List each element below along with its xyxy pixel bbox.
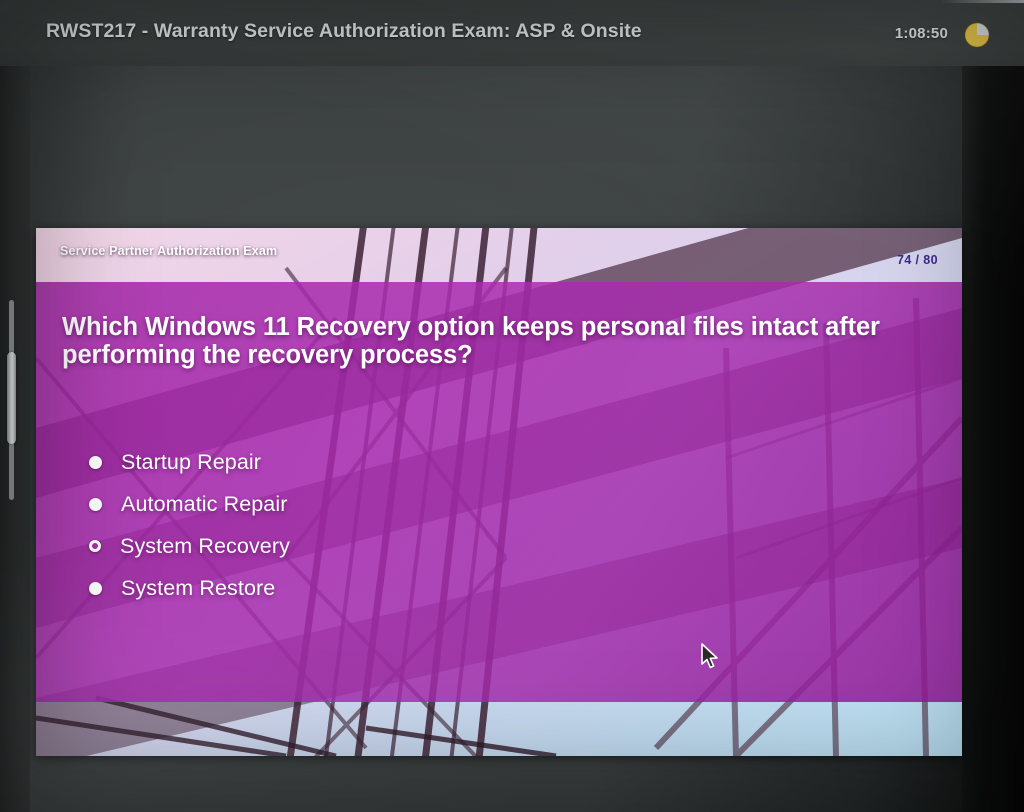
top-bar-hairline	[940, 0, 1024, 3]
answer-option[interactable]: Startup Repair	[86, 441, 786, 483]
slide-header-label: Service Partner Authorization Exam	[60, 244, 277, 258]
bullet-filled-icon	[89, 498, 102, 511]
right-bezel	[962, 0, 1024, 812]
question-text: Which Windows 11 Recovery option keeps p…	[62, 314, 942, 369]
screen: RWST217 - Warranty Service Authorization…	[0, 0, 1024, 812]
answer-option-selected[interactable]: System Recovery	[86, 525, 786, 567]
bullet-filled-icon	[89, 582, 102, 595]
answer-option[interactable]: Automatic Repair	[86, 483, 786, 525]
answer-option[interactable]: System Restore	[86, 567, 786, 609]
slide-header-band: Service Partner Authorization Exam 74 / …	[36, 228, 962, 282]
scrollbar-thumb[interactable]	[7, 352, 16, 444]
exam-top-bar: RWST217 - Warranty Service Authorization…	[0, 0, 1024, 66]
bullet-ring-icon	[89, 540, 101, 552]
answer-option-label: Automatic Repair	[121, 492, 288, 517]
bullet-filled-icon	[89, 456, 102, 469]
answer-option-label: Startup Repair	[121, 450, 261, 475]
slide-footer-band	[36, 702, 962, 756]
clock-pie-icon	[964, 22, 990, 48]
answer-option-label: System Restore	[121, 576, 275, 601]
exam-timer: 1:08:50	[895, 25, 948, 42]
exam-title: RWST217 - Warranty Service Authorization…	[46, 20, 642, 43]
answer-option-label: System Recovery	[120, 534, 290, 559]
question-slide: Service Partner Authorization Exam 74 / …	[36, 228, 962, 756]
question-counter: 74 / 80	[897, 253, 938, 267]
answer-options-list: Startup Repair Automatic Repair System R…	[86, 441, 786, 609]
